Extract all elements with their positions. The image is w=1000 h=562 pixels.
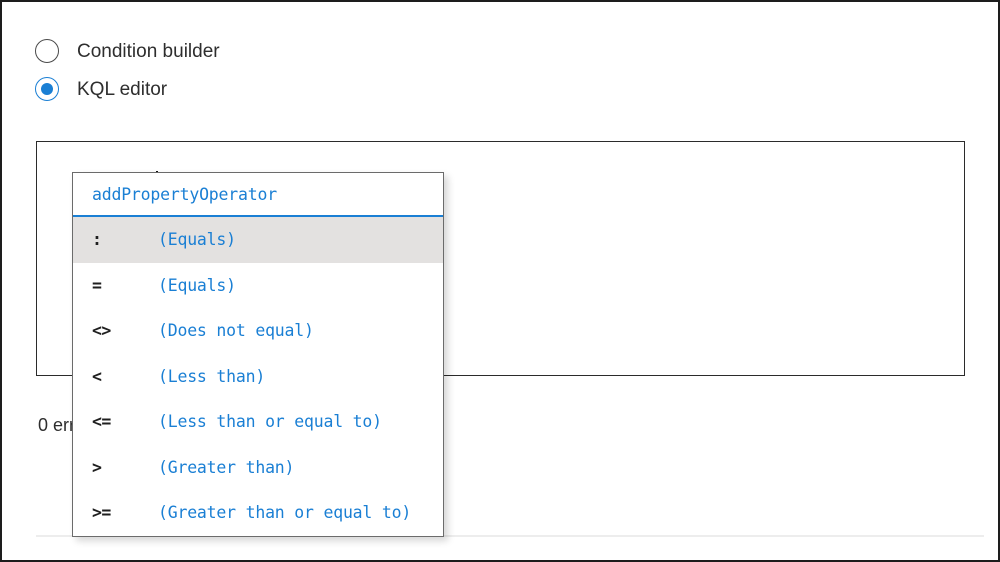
operator-symbol: <=	[92, 412, 158, 431]
operator-symbol: =	[92, 276, 158, 295]
autocomplete-header-label: addPropertyOperator	[92, 185, 277, 204]
operator-description: (Equals)	[158, 276, 236, 295]
radio-label-condition-builder: Condition builder	[77, 42, 220, 61]
operator-symbol: <	[92, 367, 158, 386]
autocomplete-option[interactable]: <> (Does not equal)	[73, 308, 443, 354]
autocomplete-option[interactable]: <= (Less than or equal to)	[73, 399, 443, 445]
operator-description: (Greater than or equal to)	[158, 503, 411, 522]
autocomplete-option[interactable]: = (Equals)	[73, 263, 443, 309]
operator-description: (Does not equal)	[158, 321, 314, 340]
operator-symbol: <>	[92, 321, 158, 340]
operator-symbol: :	[92, 230, 158, 249]
autocomplete-option-list: : (Equals) = (Equals) <> (Does not equal…	[73, 217, 443, 536]
operator-description: (Less than or equal to)	[158, 412, 382, 431]
operator-symbol: >=	[92, 503, 158, 522]
operator-description: (Less than)	[158, 367, 265, 386]
autocomplete-option[interactable]: < (Less than)	[73, 354, 443, 400]
radio-label-kql-editor: KQL editor	[77, 80, 167, 99]
radio-option-kql-editor[interactable]: KQL editor	[35, 70, 455, 108]
operator-description: (Greater than)	[158, 458, 294, 477]
autocomplete-option[interactable]: : (Equals)	[73, 217, 443, 263]
operator-symbol: >	[92, 458, 158, 477]
autocomplete-dropdown[interactable]: addPropertyOperator : (Equals) = (Equals…	[72, 172, 444, 537]
radio-checked-icon[interactable]	[35, 77, 59, 101]
app-screen: Condition builder KQL editor Date 0 erro…	[0, 0, 1000, 562]
autocomplete-header: addPropertyOperator	[73, 173, 443, 217]
autocomplete-option[interactable]: > (Greater than)	[73, 445, 443, 491]
radio-unchecked-icon[interactable]	[35, 39, 59, 63]
autocomplete-option[interactable]: >= (Greater than or equal to)	[73, 490, 443, 536]
operator-description: (Equals)	[158, 230, 236, 249]
editor-mode-radio-group: Condition builder KQL editor	[35, 32, 455, 108]
radio-option-condition-builder[interactable]: Condition builder	[35, 32, 455, 70]
